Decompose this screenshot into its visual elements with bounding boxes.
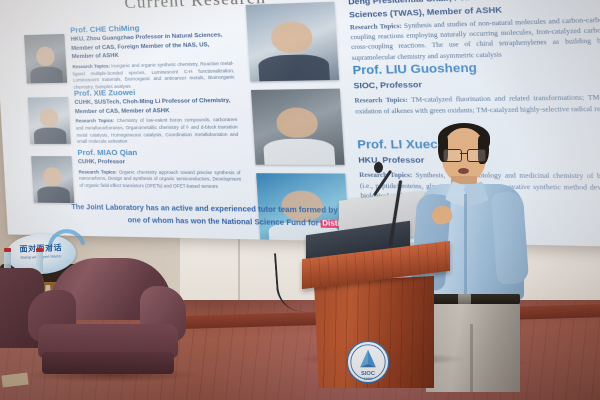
sioc-logo-icon: SIOC 1950	[346, 340, 390, 384]
professor-affiliation: HKU, Zhou Guangzhao Professor in Natural…	[71, 31, 234, 62]
glasses-lens-right	[467, 149, 486, 162]
professor-entry: Prof. CHE ChiMing HKU, Zhou Guangzhao Pr…	[6, 18, 238, 26]
portrait-face	[270, 21, 313, 53]
shirt-placket	[464, 194, 467, 298]
research-topics-label: Research Topics:	[75, 118, 114, 123]
research-topics-label: Research Topics:	[350, 23, 402, 31]
professor-entry: CUHK, Emeritus Professor, Emeritus Presi…	[347, 0, 600, 64]
professor-portrait	[28, 97, 71, 144]
leather-armchair	[28, 258, 188, 378]
glasses-lens-left	[443, 149, 462, 162]
research-topics-label: Research Topics:	[354, 98, 408, 105]
professor-entry: Prof. LIU Guosheng SIOC, Professor Resea…	[352, 58, 600, 117]
research-topics-label: Research Topics:	[78, 169, 117, 174]
professor-affiliation: CUHK, Professor	[78, 158, 240, 167]
professor-affiliation: CUHK, SUSTech, Choh-Ming Li Professor of…	[74, 97, 237, 117]
svg-text:1950: 1950	[364, 376, 374, 381]
portrait-body	[263, 139, 336, 165]
slide-left-column: Prof. CHE ChiMing HKU, Zhou Guangzhao Pr…	[0, 12, 237, 20]
research-topics-label: Research Topics:	[72, 63, 110, 69]
belt-buckle	[458, 294, 471, 304]
arm-right	[491, 191, 529, 285]
portrait-body	[30, 66, 63, 83]
portrait-body	[258, 53, 331, 81]
professor-portrait	[251, 89, 345, 165]
portrait-body	[33, 128, 66, 144]
glasses-icon	[443, 149, 485, 160]
footer-line1-pre: The Joint Laboratory has an active and e…	[71, 204, 340, 215]
trouser-seam	[470, 324, 473, 392]
portrait-face	[43, 167, 63, 186]
portrait-face	[276, 107, 319, 137]
portrait-face	[39, 108, 59, 127]
chair-base	[42, 352, 174, 374]
professor-portrait	[246, 2, 339, 82]
professor-affiliation: SIOC, Professor	[353, 75, 600, 92]
portrait-face	[36, 46, 56, 66]
podium-body: SIOC 1950	[314, 276, 434, 388]
professor-portrait	[24, 34, 67, 84]
mouth	[458, 168, 469, 174]
glasses-bridge	[460, 153, 467, 154]
professor-portrait	[31, 156, 74, 203]
portrait-body	[37, 187, 70, 203]
bottle-cap	[4, 248, 11, 252]
microphone-icon	[374, 162, 383, 173]
bottle-cap	[36, 248, 43, 252]
professor-name: Prof. MIAO Qian	[77, 148, 239, 158]
photograph-scene: 中国科学院上海有机化学研究所 Current Research Prof. CH…	[0, 0, 600, 400]
lectern-podium: SIOC 1950	[302, 228, 450, 360]
